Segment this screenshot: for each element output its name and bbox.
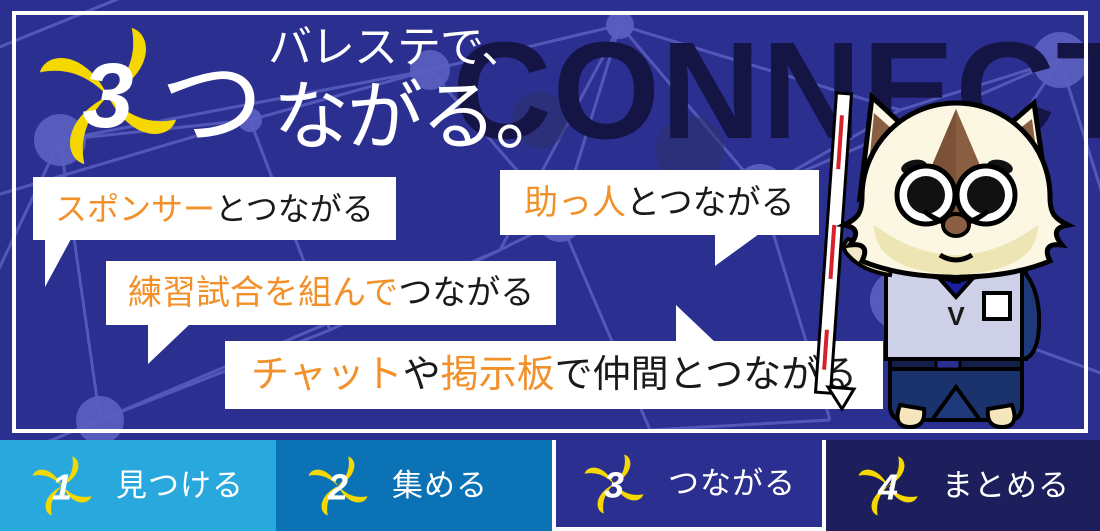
bubble-chat-highlight: チャット (251, 354, 403, 396)
bubble-practice-rest: つながる (398, 274, 534, 312)
bubble-sponsor-tail (45, 239, 71, 287)
tab-step-2-collect[interactable]: 2 集める (276, 440, 552, 531)
tab-4-pinwheel-icon: 4 (856, 454, 920, 518)
bubble-chat-tail (676, 305, 716, 343)
tab-2-label: 集める (392, 470, 488, 501)
hero-panel: CONNECT 3 バレステで、 つ ながる。 スポンサーとつながる (0, 0, 1100, 440)
tab-step-4-summarize[interactable]: 4 まとめる (826, 440, 1100, 531)
bubble-helper-rest: とつながる (626, 184, 795, 222)
step-tab-bar: 1 見つける 2 集める (0, 440, 1100, 531)
bubble-chat-mid: や (403, 354, 441, 396)
bubble-sponsor-highlight: スポンサー (55, 191, 215, 227)
tab-3-label: つながる (668, 468, 796, 499)
bubble-helper-highlight: 助っ人 (524, 184, 626, 222)
connect-banner: CONNECT 3 バレステで、 つ ながる。 スポンサーとつながる (0, 0, 1100, 531)
bubble-sponsor-rest: とつながる (215, 191, 374, 227)
bubble-practice-match: 練習試合を組んでつながる (106, 261, 556, 325)
mascot-head (844, 97, 1068, 277)
shirt-letter: V (947, 301, 965, 331)
bubble-helper: 助っ人とつながる (500, 170, 819, 235)
headline-kicker: バレステで、 (268, 26, 524, 70)
tab-4-label: まとめる (942, 470, 1070, 501)
tab-2-number: 2 (327, 467, 348, 507)
tab-2-pinwheel-icon: 2 (306, 454, 370, 518)
tab-1-pinwheel-icon: 1 (30, 454, 94, 518)
bubble-practice-tail (148, 324, 190, 364)
tab-3-pinwheel-icon: 3 (582, 452, 646, 516)
tab-step-1-find[interactable]: 1 見つける (0, 440, 276, 531)
bubble-board-highlight: 掲示板 (441, 354, 555, 396)
bubble-sponsor: スポンサーとつながる (33, 177, 396, 240)
bubble-chat-board: チャットや掲示板で仲間とつながる (225, 341, 883, 409)
tab-step-3-connect[interactable]: 3 つながる (552, 440, 826, 531)
bubble-practice-highlight: 練習試合を組んで (128, 274, 398, 312)
volleyball-dog-mascot: V (812, 75, 1100, 440)
tab-4-number: 4 (877, 467, 898, 507)
headline-tsu: つ (160, 52, 264, 156)
headline-main: ながる。 (273, 80, 569, 156)
bubble-helper-tail (715, 234, 759, 266)
tab-1-label: 見つける (116, 470, 244, 501)
tab-3-number: 3 (604, 465, 624, 505)
tab-1-number: 1 (52, 467, 72, 507)
